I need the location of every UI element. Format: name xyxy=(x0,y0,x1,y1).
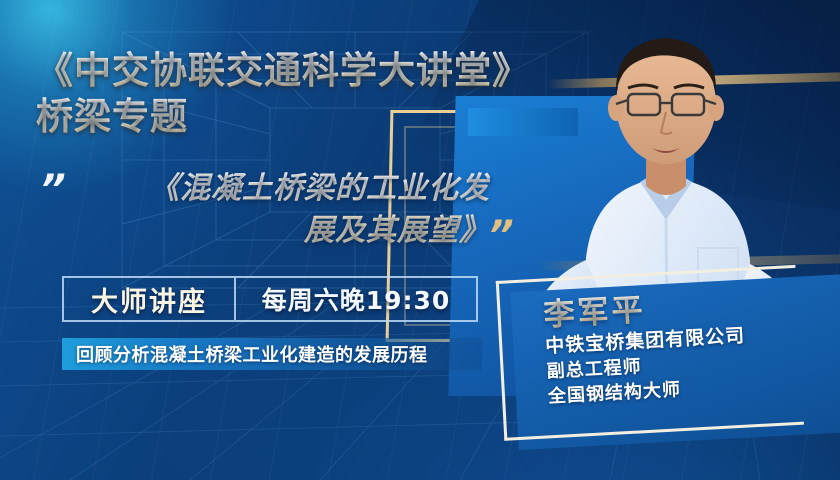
quote-line-1: 《混凝土桥梁的工业化发 xyxy=(90,168,490,210)
description-text: 回顾分析混凝土桥梁工业化建造的发展历程 xyxy=(62,341,428,367)
quote-line-2: 展及其展望》 xyxy=(90,210,490,252)
lecture-type-label: 大师讲座 xyxy=(64,278,236,320)
lecture-info-bar: 大师讲座 每周六晚19:30 xyxy=(62,276,478,322)
quote-text: 《混凝土桥梁的工业化发 展及其展望》 xyxy=(90,168,490,252)
description-bar: 回顾分析混凝土桥梁工业化建造的发展历程 xyxy=(62,338,482,370)
quote-open-mark: ” xyxy=(40,170,63,210)
title-line-1: 《中交协联交通科学大讲堂》 xyxy=(36,48,566,94)
topic-quote: ” 《混凝土桥梁的工业化发 展及其展望》 ” xyxy=(36,168,536,266)
main-title: 《中交协联交通科学大讲堂》 桥梁专题 xyxy=(36,48,566,140)
quote-close-mark: ” xyxy=(488,216,511,256)
speaker-card: 李军平 中铁宝桥集团有限公司 副总工程师 全国钢结构大师 xyxy=(496,263,834,447)
speaker-details: 李军平 中铁宝桥集团有限公司 副总工程师 全国钢结构大师 xyxy=(543,281,839,410)
lecture-schedule: 每周六晚19:30 xyxy=(236,281,476,317)
lecture-poster: 《中交协联交通科学大讲堂》 桥梁专题 ” 《混凝土桥梁的工业化发 展及其展望》 … xyxy=(0,0,840,480)
title-line-2: 桥梁专题 xyxy=(36,94,566,140)
poster-content: 《中交协联交通科学大讲堂》 桥梁专题 ” 《混凝土桥梁的工业化发 展及其展望》 … xyxy=(0,0,840,480)
